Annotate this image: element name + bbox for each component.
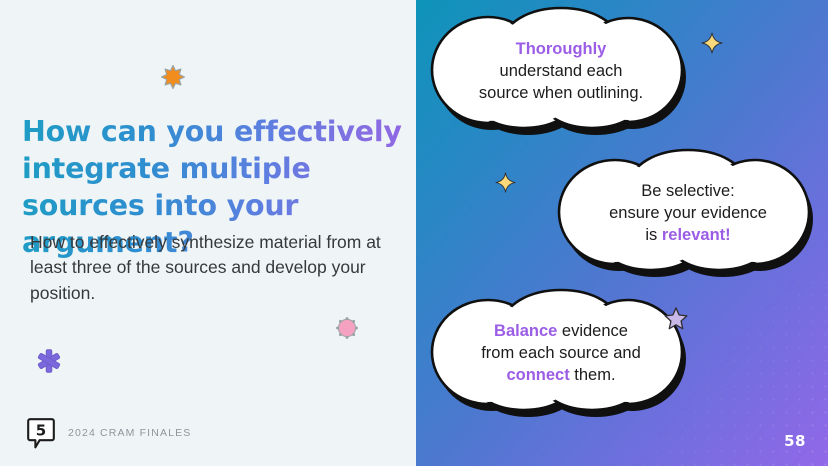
cloud-text-line: source when outlining. [432, 83, 690, 105]
left-content-panel: How can you effectively integrate multip… [0, 0, 416, 466]
cloud-text-plain: ensure your evidence [609, 204, 767, 222]
cloud-text-line: is relevant! [557, 225, 819, 247]
cloud-text-highlight: Thoroughly [516, 40, 607, 58]
page-number: 58 [784, 432, 806, 450]
cloud-text-line: understand each [432, 61, 690, 83]
lilac-star-icon [663, 306, 689, 332]
cloud-text-highlight: Balance [494, 322, 557, 340]
brand-logo-icon: 5 [27, 418, 55, 448]
cloud-text-highlight: connect [506, 366, 569, 384]
footer: 5 2024 CRAM FINALES [27, 418, 191, 448]
cloud-balance-text: Balance evidencefrom each source andconn… [430, 321, 692, 387]
cloud-text-highlight: relevant! [662, 226, 731, 244]
cloud-text-line: Be selective: [557, 181, 819, 203]
cloud-text-plain: from each source and [481, 344, 641, 362]
pink-gear-dot-icon [335, 316, 359, 345]
cloud-text-plain: them. [570, 366, 616, 384]
yellow-sparkle-icon-mid [495, 172, 516, 198]
cloud-text-plain: evidence [557, 322, 628, 340]
right-visual-panel: Thoroughlyunderstand eachsource when out… [416, 0, 828, 466]
cloud-text-line: Thoroughly [432, 39, 690, 61]
cloud-text-plain: is [645, 226, 662, 244]
cloud-be-selective-text: Be selective:ensure your evidenceis rele… [557, 181, 819, 247]
cloud-text-plain: Be selective: [641, 182, 735, 200]
cloud-balance: Balance evidencefrom each source andconn… [430, 290, 692, 422]
orange-burst-icon [160, 64, 186, 95]
cloud-thoroughly: Thoroughlyunderstand eachsource when out… [432, 8, 690, 140]
cloud-text-plain: understand each [500, 62, 623, 80]
cloud-text-plain: source when outlining. [479, 84, 643, 102]
cloud-text-line: connect them. [430, 365, 692, 387]
brand-logo-number: 5 [36, 422, 46, 440]
purple-asterisk-icon [36, 348, 62, 379]
page-subtitle: How to effectively synthesize material f… [30, 230, 395, 307]
cloud-text-line: ensure your evidence [557, 203, 819, 225]
footer-label: 2024 CRAM FINALES [68, 427, 191, 439]
cloud-thoroughly-text: Thoroughlyunderstand eachsource when out… [432, 39, 690, 105]
cloud-text-line: Balance evidence [430, 321, 692, 343]
cloud-be-selective: Be selective:ensure your evidenceis rele… [557, 150, 819, 282]
cloud-text-line: from each source and [430, 343, 692, 365]
slide-canvas: How can you effectively integrate multip… [0, 0, 828, 466]
yellow-sparkle-icon-top [701, 32, 723, 59]
